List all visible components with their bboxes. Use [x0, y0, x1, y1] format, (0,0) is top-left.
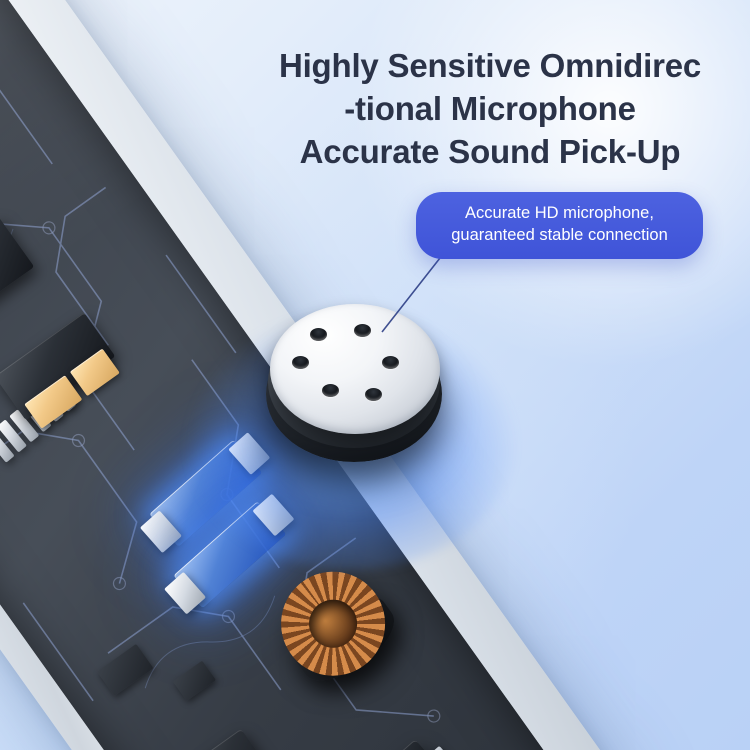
headline-line-1: Highly Sensitive Omnidirec — [255, 45, 725, 88]
microphone-hole — [292, 356, 309, 369]
microphone-face — [270, 304, 440, 434]
callout-line-1: Accurate HD microphone, — [432, 202, 687, 224]
page-title: Highly Sensitive Omnidirec -tional Micro… — [255, 45, 725, 174]
microphone-hole — [365, 388, 382, 401]
microphone-hole — [322, 384, 339, 397]
microphone-hole — [354, 324, 371, 337]
omnidirectional-microphone — [258, 300, 453, 485]
headline-line-3: Accurate Sound Pick-Up — [255, 131, 725, 174]
headline-line-2: -tional Microphone — [255, 88, 725, 131]
microphone-hole — [382, 356, 399, 369]
feature-callout-badge: Accurate HD microphone, guaranteed stabl… — [416, 192, 703, 259]
callout-line-2: guaranteed stable connection — [432, 224, 687, 246]
product-marketing-image: Highly Sensitive Omnidirec -tional Micro… — [0, 0, 750, 750]
microphone-hole — [310, 328, 327, 341]
